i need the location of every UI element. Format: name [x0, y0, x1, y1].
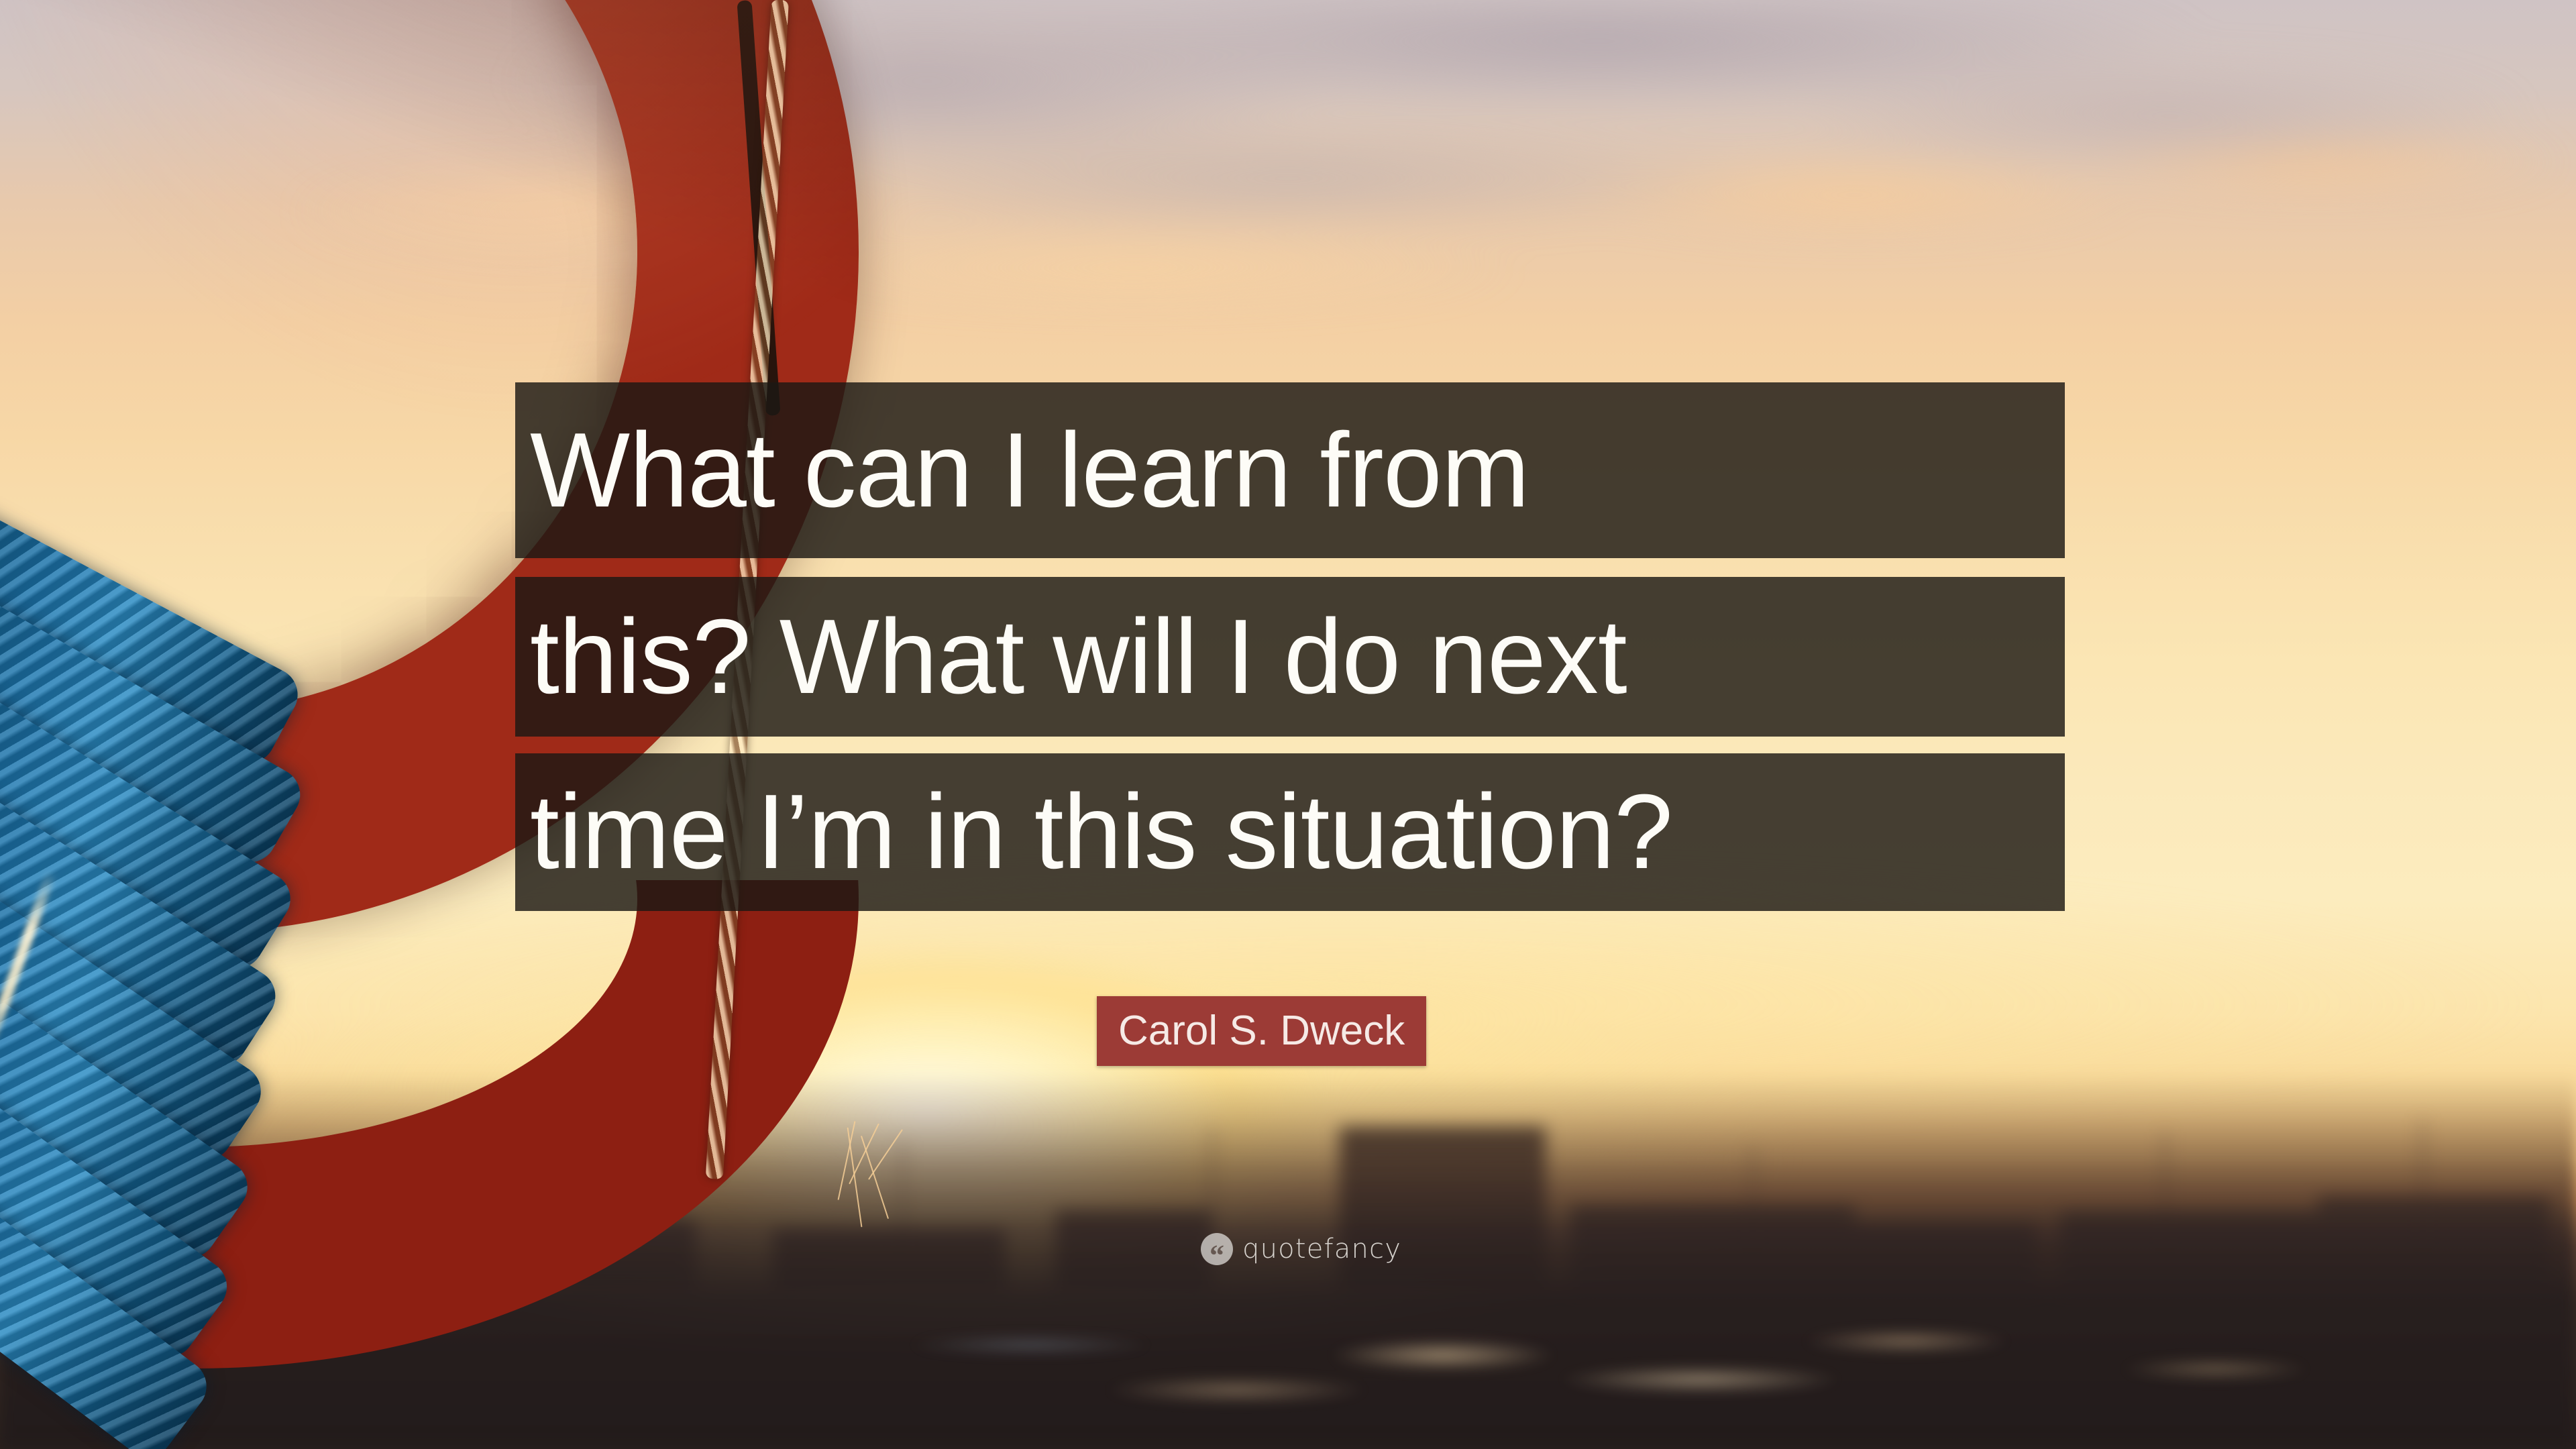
- blue-rope-coil: [0, 577, 335, 1449]
- watermark-brand-label: quotefancy: [1242, 1234, 1401, 1265]
- quote-poster: What can I learn from this? What will I …: [0, 0, 2576, 1449]
- cord-frayed-ends: [842, 1120, 922, 1241]
- quote-line-1: What can I learn from: [515, 382, 2065, 558]
- quote-line-2: this? What will I do next: [515, 577, 2065, 737]
- quote-mark-icon: “: [1201, 1233, 1233, 1265]
- quote-text-block: What can I learn from this? What will I …: [515, 382, 2065, 911]
- author-attribution-badge: Carol S. Dweck: [1097, 996, 1426, 1066]
- quote-line-3: time I’m in this situation?: [515, 753, 2065, 911]
- quotefancy-watermark[interactable]: “ quotefancy: [1201, 1233, 1401, 1265]
